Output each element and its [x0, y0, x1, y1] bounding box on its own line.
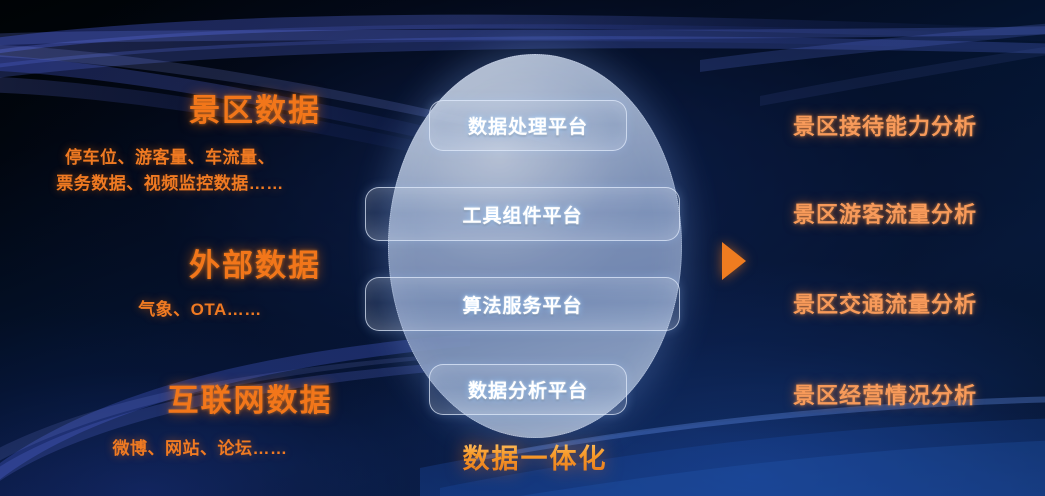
platform-box-data-processing[interactable]: 数据处理平台	[429, 100, 627, 151]
platform-box-label: 数据分析平台	[468, 376, 588, 403]
source-detail-scenic-data: 停车位、游客量、车流量、 票务数据、视频监控数据……	[0, 145, 340, 196]
source-detail-external-data: 气象、OTA……	[60, 297, 340, 323]
source-detail-internet-data: 微博、网站、论坛……	[60, 436, 340, 462]
output-item-traffic-flow[interactable]: 景区交通流量分析	[740, 287, 1030, 319]
platform-box-label: 算法服务平台	[462, 291, 582, 318]
platform-box-data-analysis[interactable]: 数据分析平台	[429, 364, 627, 415]
output-item-business-status[interactable]: 景区经营情况分析	[740, 378, 1030, 410]
platform-box-tool-component[interactable]: 工具组件平台	[365, 187, 680, 241]
source-heading-scenic-data: 景区数据	[110, 85, 400, 130]
center-caption: 数据一体化	[395, 437, 675, 476]
platform-box-algorithm-service[interactable]: 算法服务平台	[365, 277, 680, 331]
output-item-visitor-flow[interactable]: 景区游客流量分析	[740, 197, 1030, 229]
slide-canvas: 数据处理平台 工具组件平台 算法服务平台 数据分析平台 数据一体化 景区数据 停…	[0, 0, 1045, 496]
play-triangle-right-icon	[722, 242, 746, 280]
output-item-reception-capacity[interactable]: 景区接待能力分析	[740, 109, 1030, 141]
platform-box-label: 工具组件平台	[462, 201, 582, 228]
source-heading-external-data: 外部数据	[110, 240, 400, 285]
platform-box-label: 数据处理平台	[468, 112, 588, 139]
source-heading-internet-data: 互联网数据	[100, 375, 400, 420]
